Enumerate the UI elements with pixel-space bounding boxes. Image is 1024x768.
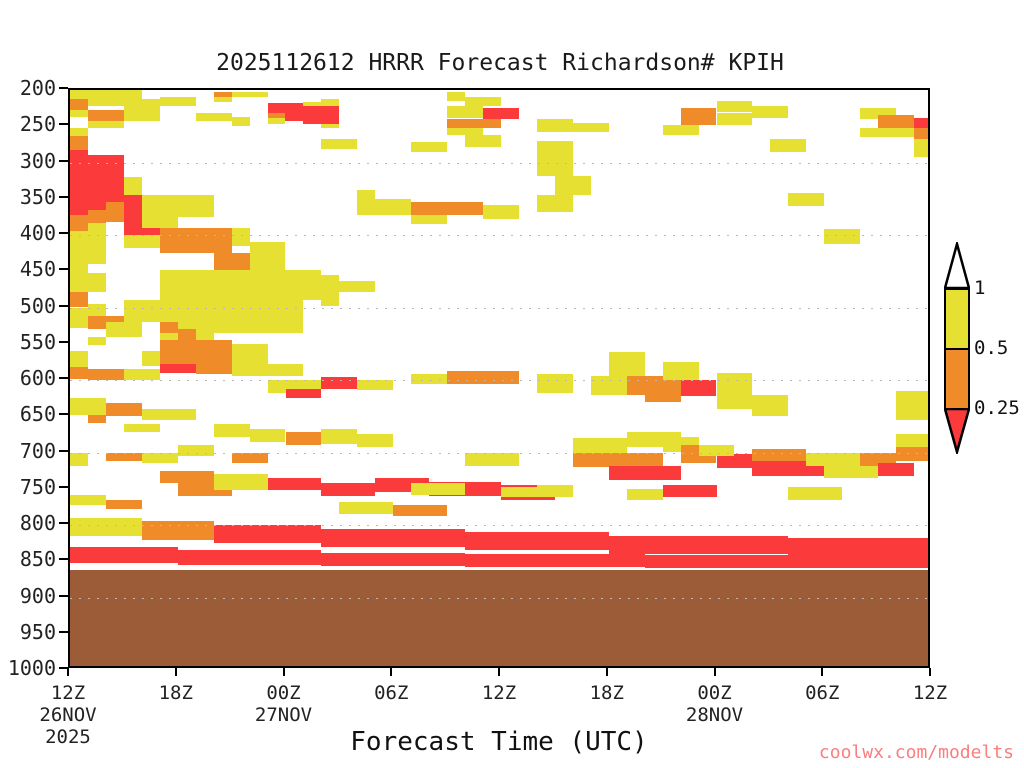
heatmap-cell [88, 223, 106, 235]
heatmap-cell [70, 518, 142, 536]
heatmap-cell [357, 190, 375, 200]
heatmap-cell [321, 139, 357, 149]
heatmap-cell [160, 340, 232, 364]
heatmap-cell [268, 118, 286, 125]
y-axis-tick-mark [59, 160, 68, 162]
heatmap-cell [411, 483, 465, 495]
heatmap-cell [321, 124, 339, 128]
terrain-fill [70, 570, 928, 668]
x-axis-title: Forecast Time (UTC) [68, 727, 930, 757]
heatmap-cell [160, 364, 196, 373]
heatmap-cell [142, 521, 214, 539]
heatmap-cell [501, 487, 537, 497]
heatmap-cell [914, 118, 930, 128]
heatmap-cell [555, 176, 591, 196]
colorbar-band-orange [944, 348, 970, 410]
heatmap-cell [914, 139, 930, 156]
x-axis-tick-label: 12Z [913, 682, 947, 704]
heatmap-cell [106, 403, 142, 416]
y-axis-tick-mark [59, 268, 68, 270]
heatmap-cell [788, 193, 824, 206]
heatmap-cell [142, 409, 196, 420]
heatmap-cell [232, 228, 250, 246]
x-axis-tick-mark [606, 668, 608, 676]
heatmap-cell [573, 123, 609, 132]
x-axis-tick-label: 18Z [590, 682, 624, 704]
y-axis-tick-label: 750 [0, 475, 56, 499]
heatmap-cell [214, 311, 304, 333]
heatmap-cell [106, 500, 142, 509]
heatmap-cell [70, 398, 106, 415]
y-axis-tick-label: 350 [0, 185, 56, 209]
heatmap-cell [411, 374, 447, 384]
watermark: coolwx.com/modelts [819, 742, 1014, 763]
heatmap-cell [447, 371, 519, 384]
heatmap-cell [447, 92, 465, 101]
heatmap-cell [160, 471, 214, 483]
x-axis-tick-mark [929, 668, 931, 676]
y-axis-tick-mark [59, 558, 68, 560]
y-axis-tick-mark [59, 450, 68, 452]
heatmap-cell [357, 199, 411, 215]
heatmap-cell [321, 483, 375, 496]
heatmap-cell [70, 351, 88, 367]
x-axis-tick-mark [390, 668, 392, 676]
heatmap-cell [483, 205, 519, 220]
y-axis-tick-label: 400 [0, 221, 56, 245]
heatmap-cell [106, 453, 142, 462]
heatmap-cell [321, 553, 465, 567]
heatmap-cell [321, 99, 339, 106]
heatmap-cell [537, 195, 573, 212]
heatmap-cell [411, 215, 447, 224]
heatmap-cell [142, 195, 214, 217]
heatmap-cell [70, 90, 88, 99]
heatmap-cell [70, 308, 88, 328]
heatmap-cell [250, 242, 286, 270]
heatmap-cell [214, 474, 268, 490]
heatmap-cell [878, 115, 914, 127]
heatmap-cell [88, 90, 142, 106]
heatmap-cell [70, 273, 106, 292]
x-axis-tick-mark [175, 668, 177, 676]
heatmap-cell [645, 555, 930, 568]
y-axis-tick-mark [59, 522, 68, 524]
colorbar-tick-label: 0.5 [974, 337, 1008, 359]
heatmap-cell [681, 380, 717, 396]
heatmap-cell [663, 125, 699, 135]
heatmap-cell [124, 424, 160, 433]
heatmap-cell [303, 106, 339, 124]
heatmap-cell [537, 155, 573, 175]
heatmap-cell [824, 466, 878, 478]
heatmap-cell [124, 235, 160, 248]
heatmap-cell [393, 505, 447, 517]
y-axis-tick-mark [59, 87, 68, 89]
y-axis-tick-mark [59, 123, 68, 125]
heatmap-cell [70, 136, 88, 151]
heatmap-cell [124, 300, 160, 322]
heatmap-cell [896, 447, 930, 462]
x-axis-tick-label: 06Z [374, 682, 408, 704]
heatmap-cell [70, 99, 88, 110]
colorbar-tick-label: 1 [974, 277, 985, 299]
heatmap-cell [214, 525, 322, 543]
heatmap-cell [70, 547, 178, 563]
x-axis-tick-mark [67, 668, 69, 676]
heatmap-cell [537, 374, 573, 393]
heatmap-cell [321, 377, 357, 389]
y-axis-tick-label: 450 [0, 257, 56, 281]
heatmap-cell [124, 106, 160, 121]
y-axis-tick-mark [59, 232, 68, 234]
heatmap-cell [70, 367, 88, 379]
heatmap-cell [88, 415, 106, 424]
heatmap-cell [752, 395, 788, 417]
y-axis-tick-label: 1000 [0, 656, 56, 680]
y-axis-tick-label: 850 [0, 547, 56, 571]
heatmap-cell [214, 424, 250, 437]
heatmap-cell [483, 108, 519, 119]
y-axis-tick-label: 600 [0, 366, 56, 390]
heatmap-cell [124, 369, 160, 380]
x-axis-tick-sublabel: 28NOV [686, 704, 743, 726]
heatmap-cell [717, 101, 753, 112]
heatmap-cell [250, 429, 286, 441]
y-axis-tick-mark [59, 377, 68, 379]
heatmap-cell [914, 128, 930, 140]
heatmap-cell [178, 445, 214, 456]
heatmap-cell [160, 322, 178, 333]
heatmap-cell [465, 97, 501, 106]
heatmap-cell [752, 449, 806, 461]
heatmap-cell [447, 119, 501, 128]
heatmap-cell [770, 139, 806, 151]
y-axis-tick-mark [59, 413, 68, 415]
x-axis-tick-mark [498, 668, 500, 676]
heatmap-cell [357, 434, 393, 446]
heatmap-cell [465, 532, 609, 550]
heatmap-cell [232, 344, 268, 364]
heatmap-cell [160, 97, 196, 106]
heatmap-cell [627, 489, 663, 500]
heatmap-cell [70, 453, 88, 466]
heatmap-cell [465, 554, 645, 567]
heatmap-cell [88, 110, 124, 121]
y-axis-tick-label: 650 [0, 402, 56, 426]
heatmap-cell [70, 110, 88, 117]
heatmap-cell [214, 97, 232, 101]
heatmap-cell [70, 215, 88, 232]
heatmap-cell [142, 453, 178, 464]
heatmap-cell [70, 495, 106, 505]
x-axis-tick-label: 00Z [697, 682, 731, 704]
heatmap-cell [573, 438, 627, 453]
colorbar-arrow-up [944, 242, 970, 288]
heatmap-cell [232, 364, 304, 376]
heatmap-cell [878, 463, 914, 475]
heatmap-cell [339, 281, 375, 292]
heatmap-cell [286, 432, 322, 445]
heatmap-cell [411, 202, 483, 214]
heatmap-cell [106, 322, 142, 337]
heatmap-cell [268, 478, 322, 490]
heatmap-cell [357, 380, 393, 390]
heatmap-cell [160, 228, 232, 253]
heatmap-cell [537, 119, 573, 132]
chart-root: 2025112612 HRRR Forecast Richardson# KPI… [0, 0, 1024, 768]
x-axis-tick-label: 12Z [482, 682, 516, 704]
heatmap-cell [232, 117, 250, 126]
heatmap-cell [70, 231, 88, 256]
y-axis-tick-label: 200 [0, 76, 56, 100]
heatmap-cell [142, 351, 160, 366]
heatmap-cell [178, 550, 322, 565]
heatmap-cell [286, 389, 322, 398]
x-axis-tick-mark [821, 668, 823, 676]
y-axis-tick-label: 550 [0, 330, 56, 354]
heatmap-cell [339, 502, 393, 514]
y-axis-tick-label: 700 [0, 439, 56, 463]
heatmap-cell [196, 113, 232, 121]
y-axis-tick-label: 250 [0, 112, 56, 136]
colorbar-band-yellow [944, 288, 970, 350]
heatmap-cell [699, 445, 735, 456]
heatmap-cell [609, 466, 681, 481]
heatmap-cell [232, 92, 268, 97]
heatmap-cell [609, 536, 789, 554]
heatmap-cell [88, 337, 106, 346]
heatmap-cell [824, 229, 860, 244]
heatmap-cell [537, 141, 573, 156]
x-axis-tick-mark [714, 668, 716, 676]
heatmap-cell [70, 150, 88, 215]
heatmap-cell [717, 373, 753, 409]
heatmap-cell [465, 135, 501, 147]
x-axis-tick-sublabel: 26NOV [39, 704, 96, 726]
heatmap-cell [88, 121, 124, 128]
heatmap-cell [160, 270, 304, 311]
heatmap-cell [537, 485, 573, 497]
heatmap-cell [178, 329, 196, 340]
heatmap-cell [663, 362, 699, 380]
heatmap-cell [88, 235, 106, 264]
heatmap-cell [717, 113, 753, 125]
heatmap-cell [447, 128, 483, 135]
page-title: 2025112612 HRRR Forecast Richardson# KPI… [0, 50, 1000, 76]
y-axis-tick-label: 800 [0, 511, 56, 535]
heatmap-cell [465, 453, 519, 466]
y-axis-tick-label: 300 [0, 149, 56, 173]
y-axis-tick-mark [59, 196, 68, 198]
colorbar-arrow-down [944, 408, 970, 454]
y-axis-tick-mark [59, 631, 68, 633]
heatmap-cell [447, 106, 483, 118]
heatmap-cell [88, 369, 124, 380]
heatmap-cell [286, 275, 340, 292]
y-axis-tick-label: 900 [0, 584, 56, 608]
heatmap-cell [788, 487, 842, 499]
x-axis-tick-sublabel: 27NOV [255, 704, 312, 726]
heatmap-cell [232, 453, 268, 464]
heatmap-cell [142, 217, 178, 228]
x-axis-tick-label: 12Z [51, 682, 85, 704]
heatmap-cell [106, 202, 124, 222]
heatmap-cell [681, 108, 717, 125]
y-axis-tick-mark [59, 341, 68, 343]
colorbar-legend: 10.50.25 [944, 288, 970, 478]
y-axis-tick-label: 500 [0, 294, 56, 318]
y-axis-tick-mark [59, 486, 68, 488]
x-axis-tick-mark [283, 668, 285, 676]
heatmap-cell [860, 128, 914, 137]
heatmap-cell [70, 292, 88, 308]
y-axis-tick-mark [59, 305, 68, 307]
heatmap-cell [806, 453, 860, 466]
heatmap-cell [196, 364, 232, 374]
heatmap-cell [752, 106, 788, 118]
x-axis-tick-label: 00Z [266, 682, 300, 704]
plot-area [68, 88, 930, 668]
colorbar-tick-label: 0.25 [974, 397, 1020, 419]
heatmap-cell [88, 210, 106, 223]
heatmap-cell [124, 177, 142, 195]
heatmap-cell [70, 257, 88, 273]
heatmap-cell [321, 529, 465, 547]
heatmap-cell [645, 380, 681, 402]
heatmap-cell [70, 128, 88, 136]
y-axis-tick-label: 950 [0, 620, 56, 644]
heatmap-cell [896, 434, 930, 446]
heatmap-cell [663, 485, 717, 497]
heatmap-cell [411, 142, 447, 151]
heatmap-cell [321, 429, 357, 444]
x-axis-tick-label: 18Z [159, 682, 193, 704]
y-axis-tick-mark [59, 595, 68, 597]
heatmap-cell [609, 352, 645, 376]
heatmap-cell [591, 376, 627, 394]
x-axis-tick-label: 06Z [805, 682, 839, 704]
heatmap-cell [896, 391, 930, 420]
